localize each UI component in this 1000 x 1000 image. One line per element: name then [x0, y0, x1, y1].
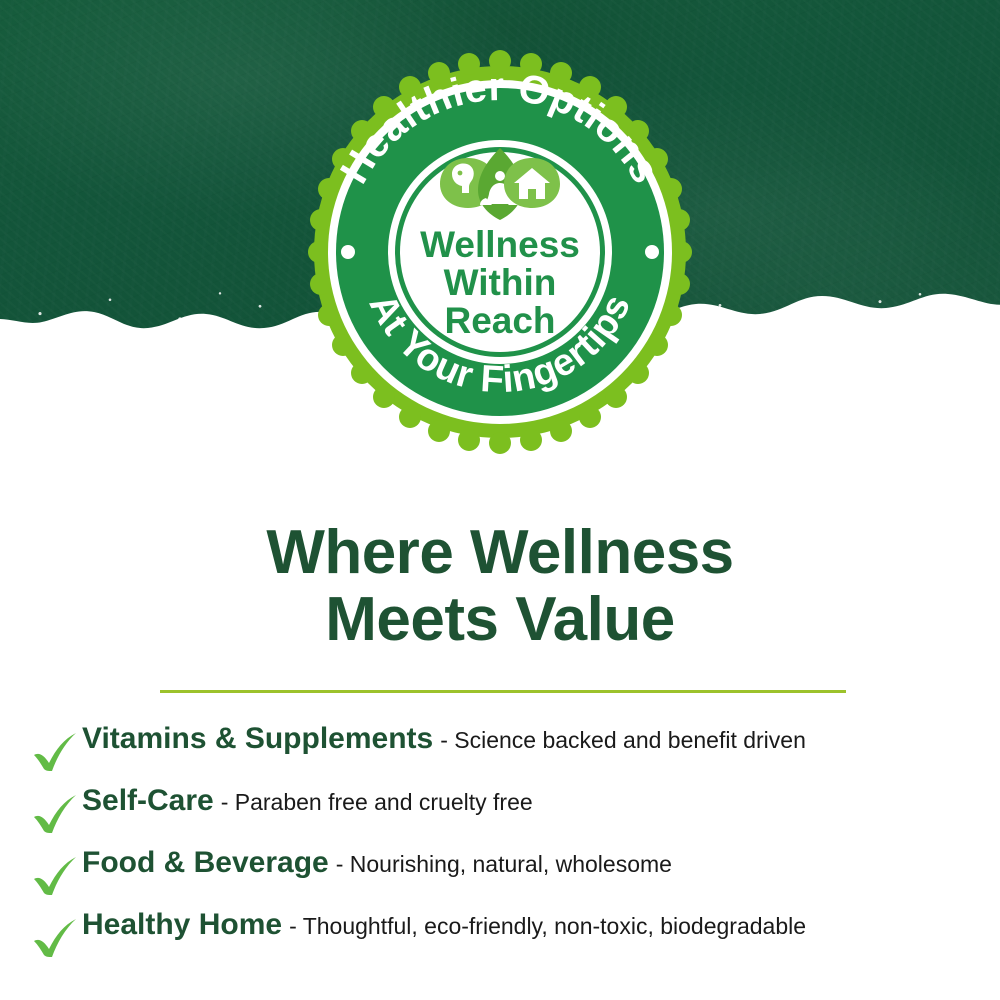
list-item-title: Self-Care: [82, 784, 214, 818]
list-item: Self-Care - Paraben free and cruelty fre…: [30, 784, 990, 846]
badge-separator-dot-right: [645, 245, 659, 259]
list-item-description: - Nourishing, natural, wholesome: [329, 851, 672, 878]
list-item-description: - Paraben free and cruelty free: [214, 789, 533, 816]
page-title-line-1: Where Wellness: [266, 518, 733, 587]
check-mark-icon: [30, 917, 82, 961]
benefits-list: Vitamins & Supplements - Science backed …: [30, 722, 990, 970]
house-leaf-icon: [504, 158, 560, 208]
title-divider: [160, 690, 846, 693]
list-item: Vitamins & Supplements - Science backed …: [30, 722, 990, 784]
page-title: Where Wellness Meets Value: [0, 520, 1000, 654]
promo-banner-page: Healthier Options At Your Fingertips: [0, 0, 1000, 1000]
check-mark-icon: [30, 855, 82, 899]
list-item: Food & Beverage - Nourishing, natural, w…: [30, 846, 990, 908]
badge-separator-dot-left: [341, 245, 355, 259]
list-item-title: Healthy Home: [82, 908, 282, 942]
badge-core-line-3: Reach: [444, 300, 555, 341]
list-item: Healthy Home - Thoughtful, eco-friendly,…: [30, 908, 990, 970]
check-mark-icon: [30, 793, 82, 837]
page-title-line-2: Meets Value: [0, 587, 1000, 654]
badge-core-line-2: Within: [444, 262, 557, 303]
list-item-title: Food & Beverage: [82, 846, 329, 880]
check-mark-icon: [30, 731, 82, 775]
badge-core-line-1: Wellness: [420, 224, 580, 265]
list-item-description: - Thoughtful, eco-friendly, non-toxic, b…: [282, 913, 806, 940]
wellness-within-reach-badge: Healthier Options At Your Fingertips: [300, 52, 700, 452]
list-item-description: - Science backed and benefit driven: [433, 727, 806, 754]
list-item-title: Vitamins & Supplements: [82, 722, 433, 756]
